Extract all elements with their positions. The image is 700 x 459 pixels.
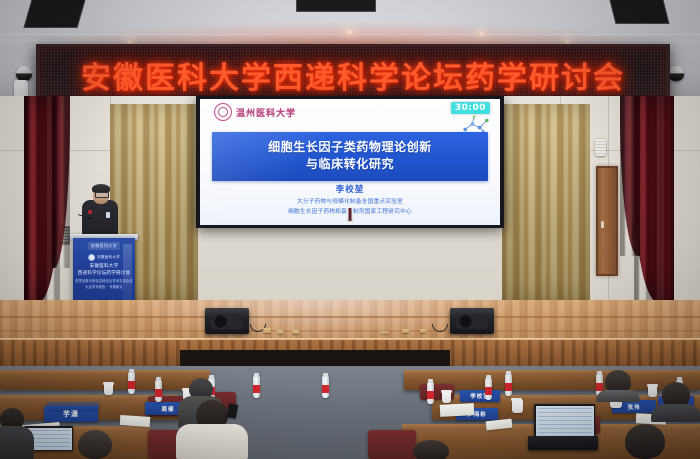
podium-line-3: 药学创新与转化高峰论坛学术交流会议 <box>73 278 135 283</box>
slide-presenter-name: 李校堃 <box>200 183 500 195</box>
curtain-right-drape <box>620 96 640 256</box>
bottle-label <box>485 387 492 395</box>
camera-dome <box>16 66 32 81</box>
presenter-lapel-flower <box>88 210 92 214</box>
audience-person <box>600 424 690 459</box>
university-seal-icon <box>214 103 232 121</box>
audience-person <box>652 382 700 422</box>
stage-door[interactable] <box>596 166 618 276</box>
document-sheet <box>440 403 475 417</box>
stage-wedge-block <box>402 329 409 333</box>
cup-lid <box>441 390 452 393</box>
placard-name: 张伟 <box>627 403 640 411</box>
slide-title-line-2: 与临床转化研究 <box>212 156 488 173</box>
curtain-shading <box>502 104 590 302</box>
audience-person <box>396 440 466 459</box>
conference-hall-photo: 安徽医科大学西递科学论坛药学研讨会 温州医科大学 30:00 <box>0 0 700 459</box>
document-sheet <box>120 415 151 427</box>
paper-cup <box>442 392 451 403</box>
curtain-right <box>634 96 674 302</box>
camera-mount <box>15 56 18 68</box>
water-bottle <box>505 374 512 396</box>
placard-name: 芋潇 <box>63 409 79 419</box>
presenter-tie <box>349 208 352 221</box>
bottle-cap <box>677 377 682 381</box>
bottle-cap <box>506 371 511 375</box>
stage-monitor-speaker-left <box>205 308 249 334</box>
bottle-cap <box>323 373 328 377</box>
stage-seam <box>0 316 700 318</box>
slide-title-line-1: 细胞生长因子类药物理论创新 <box>212 139 488 156</box>
bottle-label <box>505 383 512 391</box>
bottle-label <box>128 381 135 389</box>
laptop-display <box>536 406 594 440</box>
podium-line-2: 西递科学论坛药学研讨会 <box>73 270 135 276</box>
laptop-keyboard-base[interactable] <box>528 436 598 450</box>
person-shoulders <box>176 424 248 459</box>
slide-university-logo: 温州医科大学 <box>214 103 296 121</box>
name-placard-4: 李校堃 <box>460 390 500 402</box>
slide-title-bar: 细胞生长因子类药物理论创新 与临床转化研究 <box>212 132 488 181</box>
bottle-cap <box>486 375 491 379</box>
cup-lid <box>103 382 114 385</box>
person-shoulders <box>0 426 34 459</box>
water-bottle <box>155 380 162 402</box>
stage-seam <box>0 330 700 332</box>
table-surface <box>404 370 700 374</box>
bottle-label <box>253 385 260 393</box>
bottle-cap <box>129 369 134 373</box>
stage-monitor-speaker-right <box>450 308 494 334</box>
wall-vent-panel-right <box>595 138 606 156</box>
ceiling-panel <box>296 0 376 12</box>
door-knob[interactable] <box>601 221 604 228</box>
stage-marker-tape <box>380 331 389 334</box>
speaker-grille <box>211 314 243 329</box>
person-shoulders <box>651 404 700 422</box>
camera-dome <box>668 66 684 81</box>
podium-line-1: 安徽医科大学 <box>73 263 135 269</box>
water-bottle <box>253 376 260 398</box>
university-name: 温州医科大学 <box>236 106 296 119</box>
person-head <box>78 430 112 459</box>
water-bottle <box>128 372 135 394</box>
presenter-badge <box>106 212 110 218</box>
cup-lid <box>511 398 522 401</box>
name-placard-2 <box>47 402 99 410</box>
stage-wedge-block <box>420 329 426 333</box>
paper-cup <box>512 400 523 413</box>
paper-cup <box>104 384 113 395</box>
audience-person <box>56 430 134 459</box>
audience-person <box>0 408 40 459</box>
podium-line-4: 大会学术报告 · 专题研讨 <box>73 284 135 289</box>
speaker-grille <box>456 314 488 329</box>
curtain-left-drape <box>52 96 70 268</box>
stage-wedge-block <box>263 328 271 333</box>
water-bottle <box>427 382 434 404</box>
curtain-backdrop-right <box>502 104 590 302</box>
audience-person <box>596 370 640 400</box>
water-bottle <box>322 376 329 398</box>
bottle-cap <box>254 373 259 377</box>
presenter-glasses <box>95 192 109 198</box>
bottle-label <box>427 391 434 399</box>
podium-logo-label: 安徽医科大学 <box>97 255 120 260</box>
person-shoulders <box>596 390 640 402</box>
water-bottle <box>485 378 492 400</box>
stage-wedge-block <box>292 330 299 334</box>
placard-name: 周健 <box>161 405 174 413</box>
bottle-cap <box>428 379 433 383</box>
slide-affiliation-1: 大分子药物与规模化制备全国重点实验室 <box>200 197 500 205</box>
bottle-label <box>322 385 329 393</box>
bottle-cap <box>156 377 161 381</box>
podium-seal-icon <box>88 254 95 261</box>
stage-wedge-block <box>277 330 283 334</box>
person-head <box>625 424 665 459</box>
podium-logo: 安徽医科大学 <box>88 254 120 261</box>
podium-nameplate: 安徽医科大学 <box>88 242 120 250</box>
banner-title: 安徽医科大学西递科学论坛药学研讨会 <box>39 47 667 103</box>
table-surface <box>0 370 210 374</box>
person-head <box>413 440 449 459</box>
bottle-label <box>155 389 162 397</box>
